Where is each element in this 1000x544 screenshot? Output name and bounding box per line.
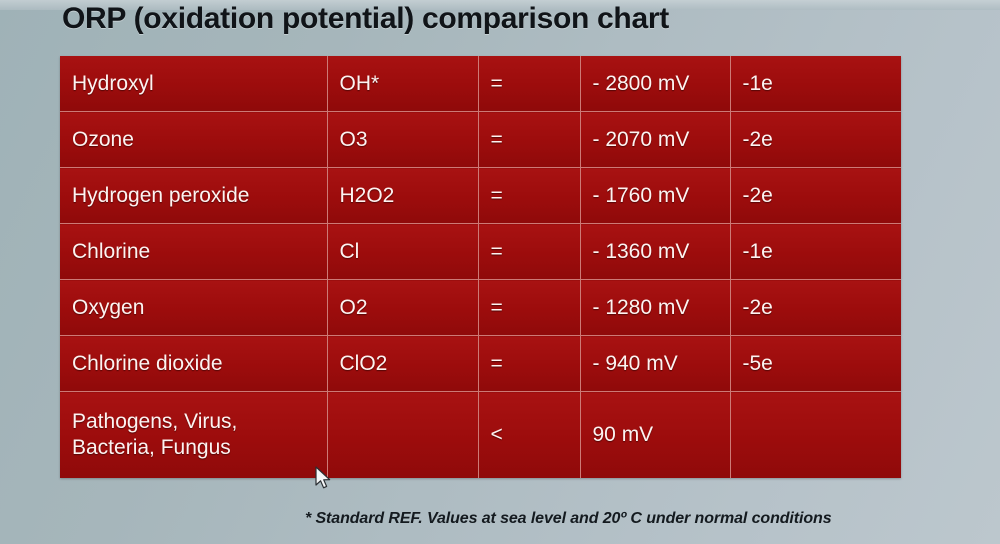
cell-substance: Hydroxyl [60, 56, 327, 112]
cell-formula: OH* [327, 56, 478, 112]
cell-operator: = [478, 56, 580, 112]
table-row: Chlorine Cl = - 1360 mV -1e [60, 224, 901, 280]
cell-orp-value: - 940 mV [580, 336, 730, 392]
cell-orp-value: 90 mV [580, 392, 730, 479]
cell-electrons: -1e [730, 224, 901, 280]
cell-electrons: -2e [730, 168, 901, 224]
cell-formula: Cl [327, 224, 478, 280]
cell-substance: Oxygen [60, 280, 327, 336]
cell-electrons [730, 392, 901, 479]
footnote-text: * Standard REF. Values at sea level and … [305, 510, 832, 528]
cell-operator: = [478, 336, 580, 392]
table-row: Hydrogen peroxide H2O2 = - 1760 mV -2e [60, 168, 901, 224]
cell-electrons: -2e [730, 280, 901, 336]
cell-text-line: Bacteria, Fungus [72, 435, 327, 461]
cell-substance: Hydrogen peroxide [60, 168, 327, 224]
cell-formula: H2O2 [327, 168, 478, 224]
table-row: Chlorine dioxide ClO2 = - 940 mV -5e [60, 336, 901, 392]
cell-operator: = [478, 224, 580, 280]
cell-electrons: -2e [730, 112, 901, 168]
cell-operator: = [478, 168, 580, 224]
cell-operator: = [478, 280, 580, 336]
cell-orp-value: - 2800 mV [580, 56, 730, 112]
table-row: Ozone O3 = - 2070 mV -2e [60, 112, 901, 168]
cell-orp-value: - 1760 mV [580, 168, 730, 224]
table-row: Oxygen O2 = - 1280 mV -2e [60, 280, 901, 336]
cell-electrons: -1e [730, 56, 901, 112]
cell-orp-value: - 1280 mV [580, 280, 730, 336]
cell-text-line: Pathogens, Virus, [72, 409, 327, 435]
cell-operator: = [478, 112, 580, 168]
cell-substance: Pathogens, Virus,Bacteria, Fungus [60, 392, 327, 479]
cell-formula [327, 392, 478, 479]
slide-canvas: ORP (oxidation potential) comparison cha… [0, 0, 1000, 544]
cell-formula: ClO2 [327, 336, 478, 392]
table-body: Hydroxyl OH* = - 2800 mV -1e Ozone O3 = … [60, 56, 901, 478]
table-row: Pathogens, Virus,Bacteria, Fungus < 90 m… [60, 392, 901, 479]
cell-substance: Chlorine dioxide [60, 336, 327, 392]
cell-operator: < [478, 392, 580, 479]
cell-substance: Chlorine [60, 224, 327, 280]
cell-orp-value: - 1360 mV [580, 224, 730, 280]
page-title: ORP (oxidation potential) comparison cha… [62, 2, 669, 36]
cell-formula: O2 [327, 280, 478, 336]
orp-comparison-table: Hydroxyl OH* = - 2800 mV -1e Ozone O3 = … [60, 56, 901, 478]
cell-substance: Ozone [60, 112, 327, 168]
table-row: Hydroxyl OH* = - 2800 mV -1e [60, 56, 901, 112]
cell-orp-value: - 2070 mV [580, 112, 730, 168]
cell-electrons: -5e [730, 336, 901, 392]
cell-formula: O3 [327, 112, 478, 168]
